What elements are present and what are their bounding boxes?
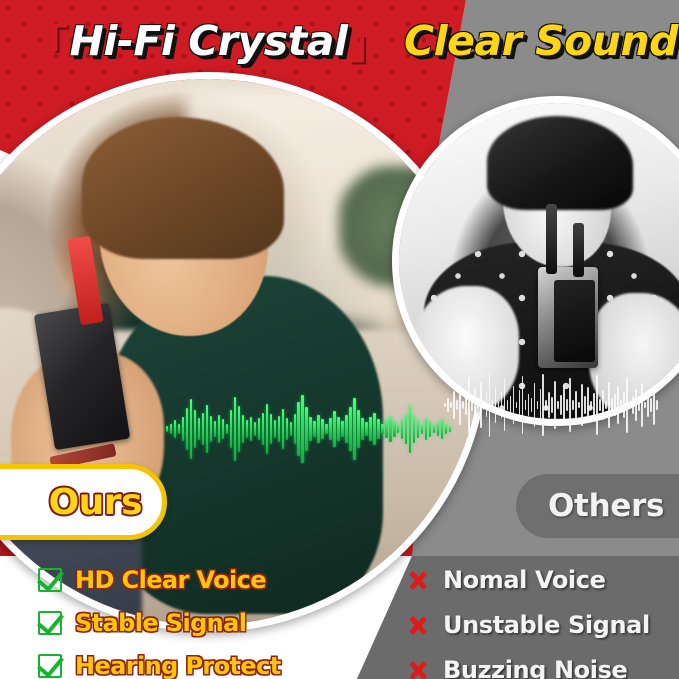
list-item: Nomal Voice	[406, 566, 650, 594]
bracket-open-icon: 「	[28, 12, 68, 70]
bracket-close-icon: 」	[349, 12, 389, 70]
list-item: Hearing Protect	[38, 652, 281, 679]
photo-boy-right-arm	[589, 293, 679, 419]
list-item: Unstable Signal	[406, 611, 650, 639]
others-feature-label: Nomal Voice	[443, 566, 605, 594]
ours-feature-list: HD Clear Voice Stable Signal Hearing Pro…	[38, 566, 281, 679]
photo-boy-hair	[487, 116, 632, 211]
list-item: Buzzing Noise	[406, 656, 650, 679]
cross-icon	[406, 613, 430, 637]
product-comparison-infographic: 「Hi-Fi Crystal」 Clear Sound Ours Others …	[0, 0, 679, 679]
check-icon	[38, 611, 62, 635]
photo-antenna-2	[573, 223, 584, 277]
list-item: HD Clear Voice	[38, 566, 281, 594]
photo-boy-left-arm	[412, 286, 519, 412]
ours-feature-label: Hearing Protect	[75, 652, 281, 679]
header-title-secondary: Clear Sound	[404, 17, 678, 65]
ours-feature-label: Stable Signal	[75, 609, 246, 637]
ours-badge-label: Ours	[49, 482, 142, 523]
check-icon	[38, 654, 62, 678]
photo-antenna-1	[546, 204, 557, 274]
cross-icon	[406, 658, 430, 679]
list-item: Stable Signal	[38, 609, 281, 637]
ours-feature-label: HD Clear Voice	[75, 566, 266, 594]
ours-badge: Ours	[0, 464, 167, 540]
check-icon	[38, 568, 62, 592]
photo-walkie-talkie-2	[554, 280, 595, 362]
others-badge: Others	[516, 474, 679, 538]
others-badge-label: Others	[548, 488, 664, 524]
others-photo-circle	[392, 96, 679, 426]
others-photo	[399, 103, 679, 419]
cross-icon	[406, 568, 430, 592]
others-feature-label: Unstable Signal	[443, 611, 650, 639]
others-feature-list: Nomal Voice Unstable Signal Buzzing Nois…	[406, 566, 650, 679]
others-feature-label: Buzzing Noise	[443, 656, 627, 679]
header-title-primary: 「Hi-Fi Crystal」	[26, 17, 391, 65]
header-title-primary-text: Hi-Fi Crystal	[70, 17, 348, 65]
